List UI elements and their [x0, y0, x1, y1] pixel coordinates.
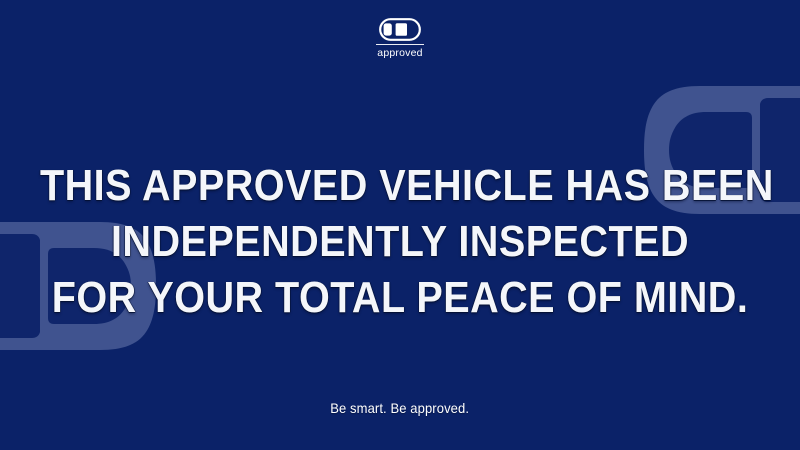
- tagline-text: Be smart. Be approved.: [331, 399, 470, 417]
- headline-line-2: INDEPENDENTLY INSPECTED: [40, 214, 760, 270]
- headline-line-3: FOR YOUR TOTAL PEACE OF MIND.: [40, 270, 760, 326]
- brand-divider-rule: [376, 44, 424, 45]
- promotional-banner: approved THIS APPROVED VEHICLE HAS BEEN …: [0, 0, 800, 450]
- headline-line-1: THIS APPROVED VEHICLE HAS BEEN: [40, 158, 760, 214]
- headline: THIS APPROVED VEHICLE HAS BEEN INDEPENDE…: [0, 158, 800, 326]
- tagline: Be smart. Be approved.: [0, 399, 800, 418]
- car-top-view-icon: [379, 18, 421, 41]
- brand-logo: approved: [0, 18, 800, 59]
- brand-name: approved: [377, 48, 422, 59]
